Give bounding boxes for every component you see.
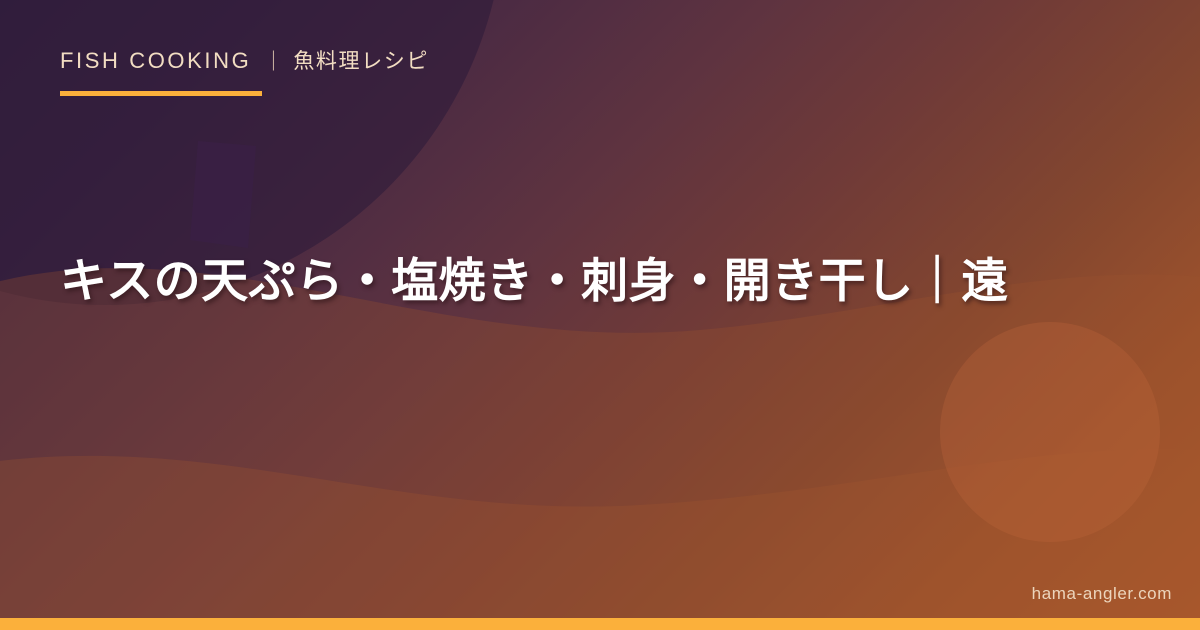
site-url-label: hama-angler.com	[1032, 584, 1172, 604]
light-circle-shape	[940, 322, 1160, 542]
og-image-card: FISH COOKING ｜ 魚料理レシピ キスの天ぷら・塩焼き・刺身・開き干し…	[0, 0, 1200, 630]
bottom-accent-bar	[0, 618, 1200, 630]
title-container: キスの天ぷら・塩焼き・刺身・開き干し｜遠	[60, 250, 1140, 311]
page-title: キスの天ぷら・塩焼き・刺身・開き干し｜遠	[60, 250, 1140, 311]
eyebrow-latin-label: FISH COOKING	[60, 50, 251, 72]
accent-underline-bar	[60, 91, 262, 96]
eyebrow: FISH COOKING ｜ 魚料理レシピ	[60, 50, 960, 72]
eyebrow-japanese-label: 魚料理レシピ	[293, 51, 429, 72]
quad-accent-shape	[190, 141, 256, 248]
card-header: FISH COOKING ｜ 魚料理レシピ	[60, 50, 960, 96]
eyebrow-separator: ｜	[263, 52, 283, 72]
